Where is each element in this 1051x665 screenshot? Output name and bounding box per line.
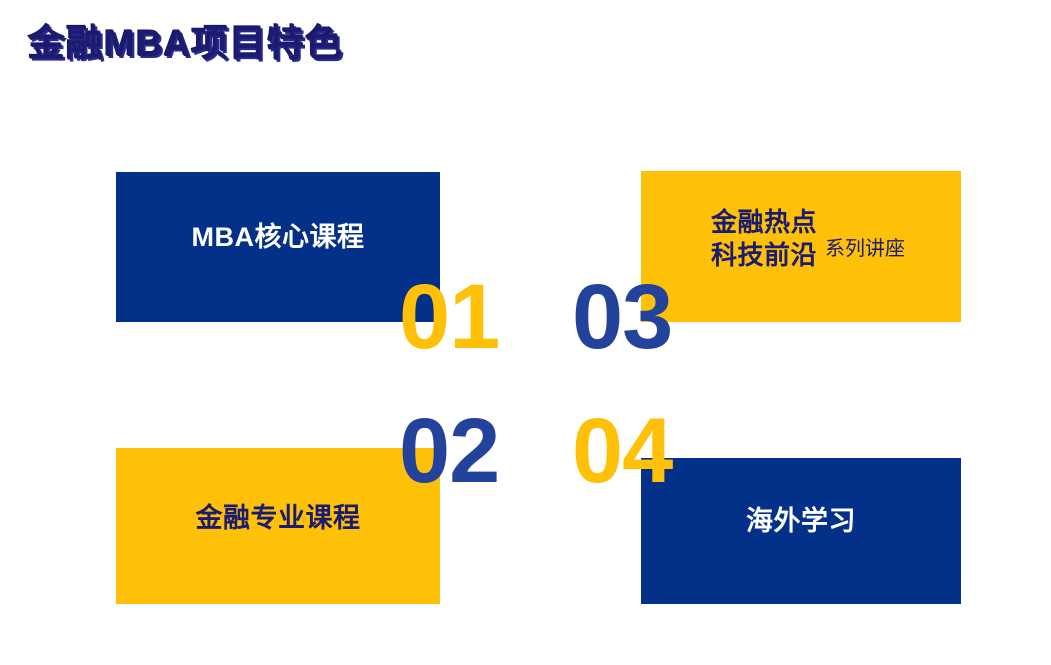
feature-panel-03-label-line2: 科技前沿	[711, 240, 817, 270]
step-number-02: 02	[399, 405, 499, 497]
feature-panel-02[interactable]: 金融专业课程	[116, 448, 440, 604]
step-number-03: 03	[572, 271, 672, 363]
step-number-01: 01	[399, 271, 499, 363]
feature-panel-01-label: MBA核心课程	[116, 222, 440, 254]
step-number-04: 04	[572, 405, 672, 497]
feature-panel-01[interactable]: MBA核心课程	[116, 172, 440, 322]
feature-panel-03-sublabel: 系列讲座	[825, 216, 905, 261]
feature-panel-04[interactable]: 海外学习	[641, 458, 961, 604]
page-title: 金融MBA项目特色	[28, 23, 343, 66]
feature-panel-02-label: 金融专业课程	[116, 503, 440, 535]
feature-panel-03-text-group: 金融热点科技前沿 系列讲座	[711, 206, 905, 271]
feature-panel-03[interactable]: 金融热点科技前沿 系列讲座	[641, 171, 961, 322]
feature-panel-03-label: 金融热点科技前沿	[711, 206, 817, 271]
feature-panel-04-label: 海外学习	[641, 506, 961, 538]
feature-panel-03-label-line1: 金融热点	[711, 207, 817, 237]
slide-canvas: 金融MBA项目特色 MBA核心课程 金融专业课程 金融热点科技前沿 系列讲座 海…	[0, 0, 1051, 665]
